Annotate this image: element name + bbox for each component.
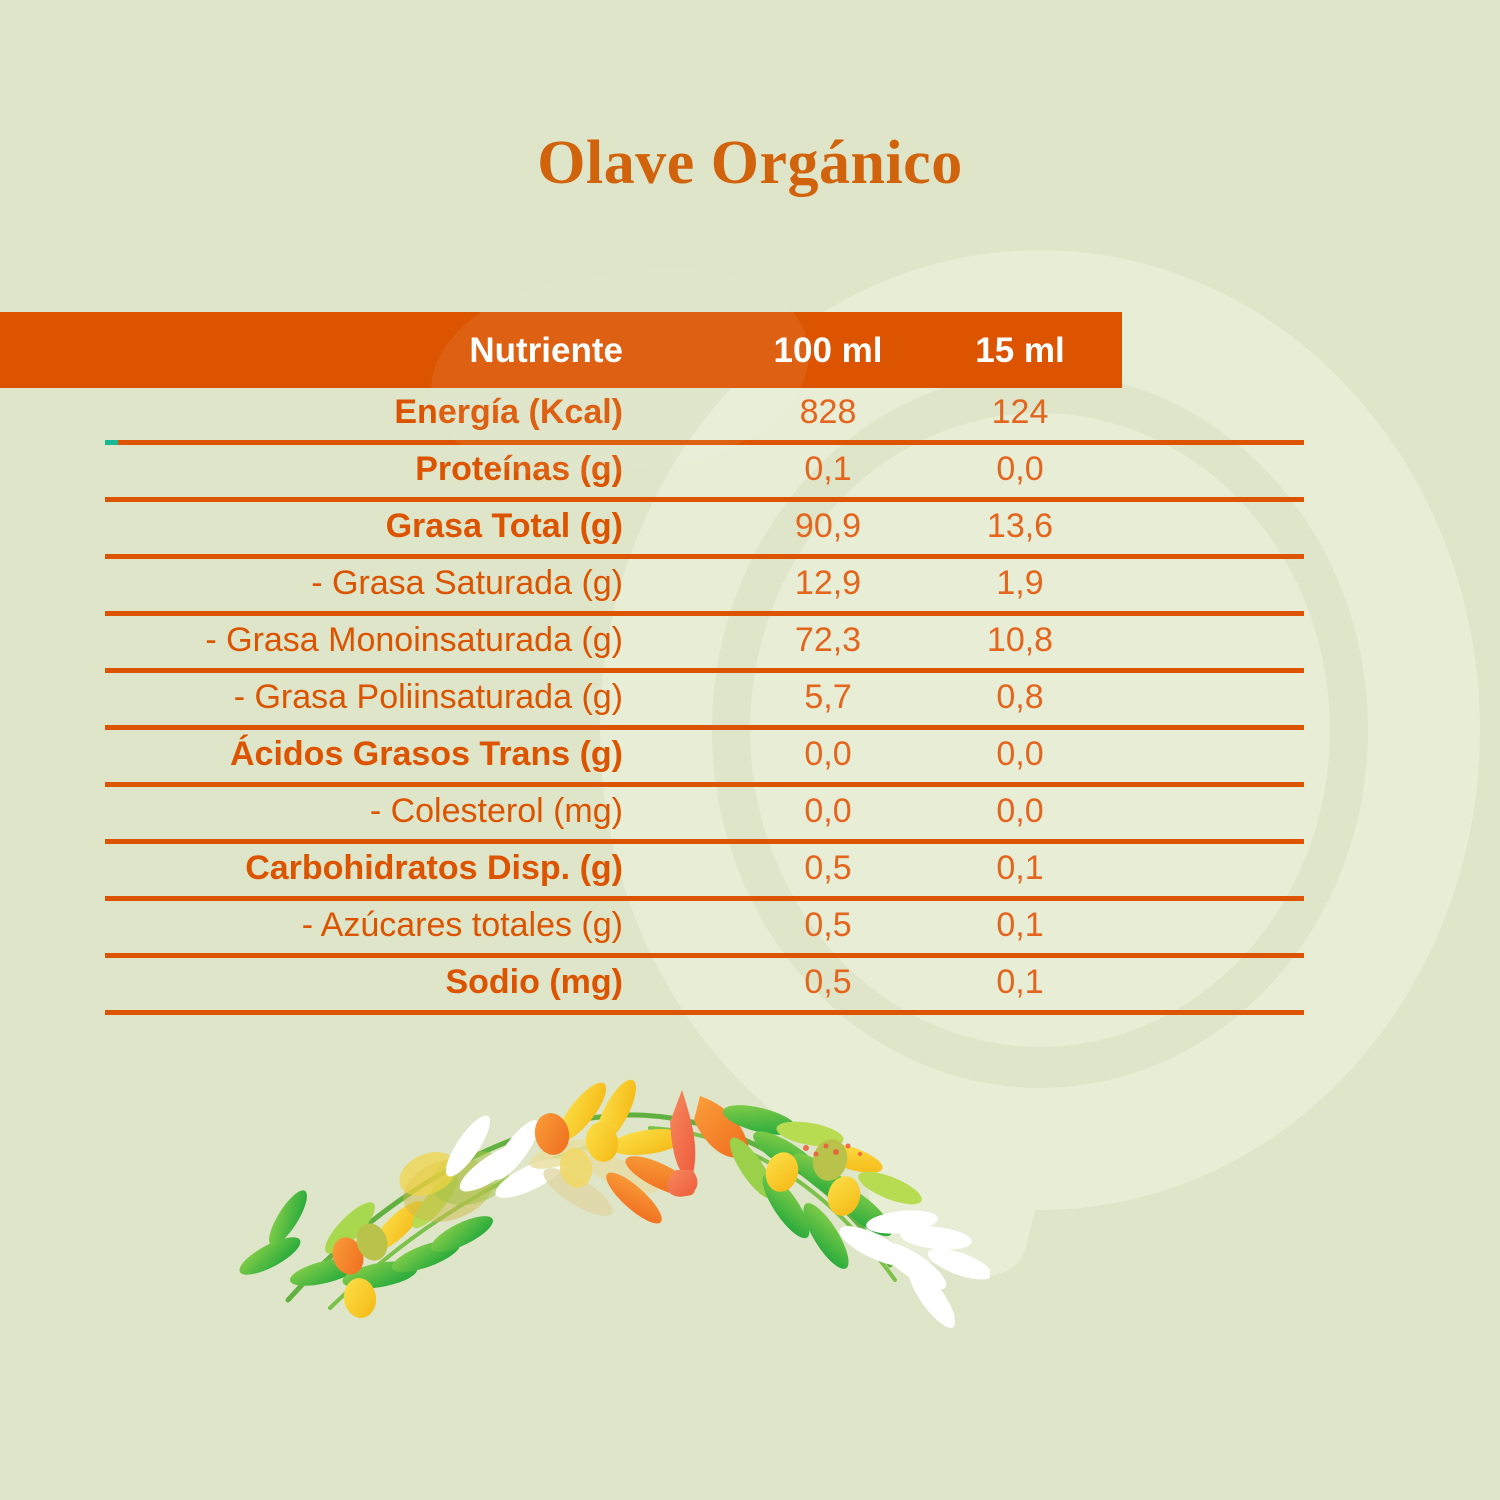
value-15ml: 13,6 xyxy=(920,504,1120,548)
nutrition-facts-card: Olave Orgánico Nutriente 100 ml 15 ml En… xyxy=(0,0,1500,1500)
table-row: Sodio (mg)0,50,1 xyxy=(0,958,1500,1015)
nutrient-label: Energía (Kcal) xyxy=(23,390,623,434)
value-15ml: 0,0 xyxy=(920,789,1120,833)
value-15ml: 0,0 xyxy=(920,732,1120,776)
row-divider xyxy=(105,1010,1304,1015)
table-row: - Azúcares totales (g)0,50,1 xyxy=(0,901,1500,958)
olive-branch-arch-illustration-icon xyxy=(230,1050,990,1350)
table-row: Proteínas (g)0,10,0 xyxy=(0,445,1500,502)
table-row: - Grasa Saturada (g)12,91,9 xyxy=(0,559,1500,616)
nutrition-table: Nutriente 100 ml 15 ml Energía (Kcal)828… xyxy=(0,312,1500,1015)
nutrient-label: Ácidos Grasos Trans (g) xyxy=(23,732,623,776)
column-header-15ml: 15 ml xyxy=(920,330,1120,372)
table-row: Ácidos Grasos Trans (g)0,00,0 xyxy=(0,730,1500,787)
nutrient-label: - Colesterol (mg) xyxy=(23,789,623,833)
value-100ml: 0,5 xyxy=(728,903,928,947)
value-100ml: 0,5 xyxy=(728,960,928,1004)
value-100ml: 0,5 xyxy=(728,846,928,890)
value-100ml: 72,3 xyxy=(728,618,928,662)
value-15ml: 124 xyxy=(920,390,1120,434)
table-row: Grasa Total (g)90,913,6 xyxy=(0,502,1500,559)
nutrient-label: - Grasa Poliinsaturada (g) xyxy=(23,675,623,719)
nutrient-label: - Grasa Monoinsaturada (g) xyxy=(23,618,623,662)
nutrient-label: - Grasa Saturada (g) xyxy=(23,561,623,605)
table-row: Energía (Kcal)828124 xyxy=(0,388,1500,445)
table-body: Energía (Kcal)828124Proteínas (g)0,10,0G… xyxy=(0,388,1500,1015)
table-row: - Grasa Monoinsaturada (g)72,310,8 xyxy=(0,616,1500,673)
nutrient-label: Grasa Total (g) xyxy=(23,504,623,548)
column-header-nutrient: Nutriente xyxy=(23,330,623,372)
value-15ml: 0,0 xyxy=(920,447,1120,491)
value-15ml: 0,1 xyxy=(920,960,1120,1004)
nutrient-label: Carbohidratos Disp. (g) xyxy=(23,846,623,890)
nutrient-label: - Azúcares totales (g) xyxy=(23,903,623,947)
value-100ml: 0,1 xyxy=(728,447,928,491)
value-15ml: 0,1 xyxy=(920,903,1120,947)
value-15ml: 1,9 xyxy=(920,561,1120,605)
nutrient-label: Sodio (mg) xyxy=(23,960,623,1004)
table-header-row: Nutriente 100 ml 15 ml xyxy=(0,312,1122,388)
nutrient-label: Proteínas (g) xyxy=(23,447,623,491)
value-100ml: 828 xyxy=(728,390,928,434)
value-100ml: 90,9 xyxy=(728,504,928,548)
table-row: - Grasa Poliinsaturada (g)5,70,8 xyxy=(0,673,1500,730)
page-title: Olave Orgánico xyxy=(0,128,1500,199)
table-row: Carbohidratos Disp. (g)0,50,1 xyxy=(0,844,1500,901)
column-header-100ml: 100 ml xyxy=(728,330,928,372)
value-100ml: 0,0 xyxy=(728,732,928,776)
value-100ml: 12,9 xyxy=(728,561,928,605)
table-row: - Colesterol (mg)0,00,0 xyxy=(0,787,1500,844)
value-15ml: 0,1 xyxy=(920,846,1120,890)
value-100ml: 0,0 xyxy=(728,789,928,833)
value-100ml: 5,7 xyxy=(728,675,928,719)
value-15ml: 10,8 xyxy=(920,618,1120,662)
value-15ml: 0,8 xyxy=(920,675,1120,719)
